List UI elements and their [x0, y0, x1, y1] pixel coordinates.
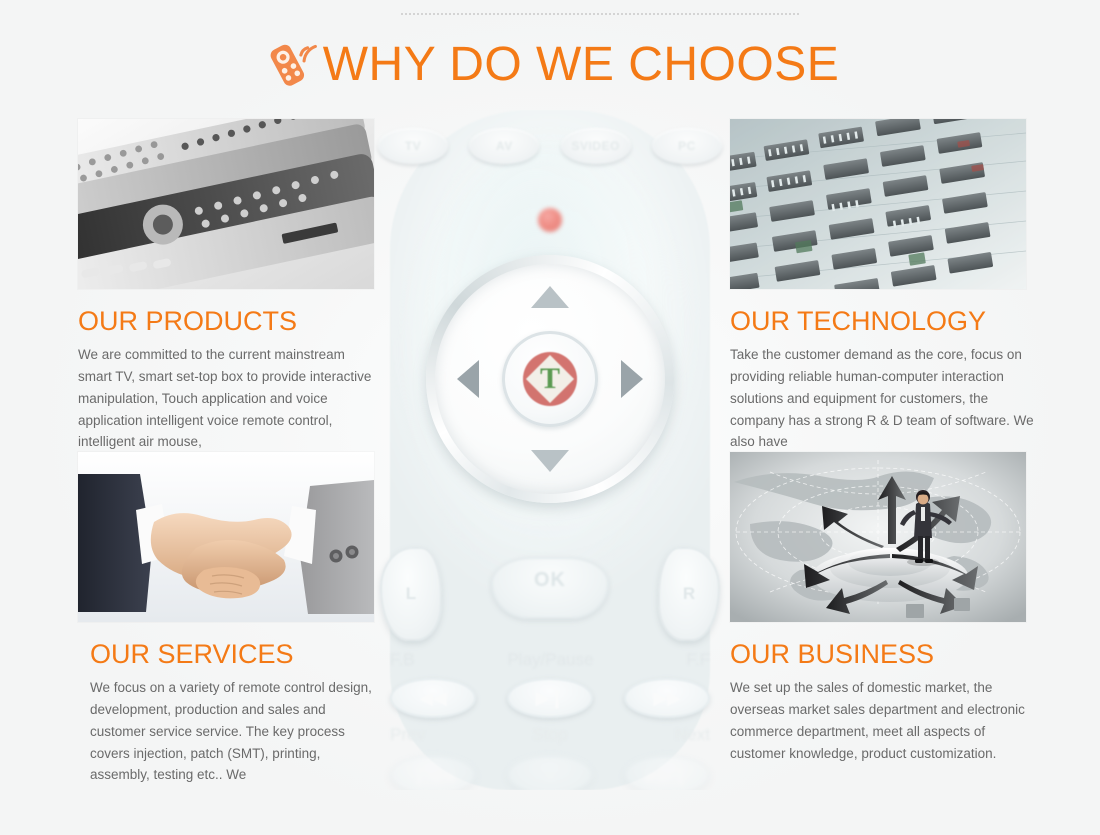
card-services-body: We focus on a variety of remote control … — [78, 677, 380, 786]
sub-label-stop: Stop — [533, 725, 568, 745]
remote-next-button[interactable]: ▶▶❙ — [624, 755, 710, 790]
media-label-play-pause: Play/Pause — [507, 650, 593, 670]
page-header: WHY DO WE CHOOSE — [0, 36, 1100, 94]
sub-label-next: Next — [675, 725, 710, 745]
brand-logo-icon: T — [523, 352, 577, 406]
dpad-down-arrow-icon[interactable] — [531, 450, 569, 472]
remote-prev-button[interactable]: ❙◀◀ — [390, 755, 476, 790]
dpad-center-button[interactable]: T — [502, 331, 598, 427]
dpad-ring[interactable]: T — [435, 264, 665, 494]
remote-fn-button-av[interactable]: AV — [469, 128, 539, 164]
remote-function-button-row: TV AV SVIDEO PC — [374, 128, 726, 164]
dpad-up-arrow-icon[interactable] — [531, 286, 569, 308]
remote-stop-button[interactable]: ■ — [507, 755, 593, 790]
dpad-left-arrow-icon[interactable] — [457, 360, 479, 398]
remote-transport-row-secondary: ❙◀◀ ■ ▶▶❙ — [390, 755, 710, 790]
remote-play-pause-button[interactable]: ▶❙ — [507, 678, 593, 718]
card-business-heading: OUR BUSINESS — [730, 641, 1040, 668]
card-products-heading: OUR PRODUCTS — [78, 308, 388, 335]
infrared-led-indicator — [538, 208, 562, 232]
remote-forward-button[interactable]: ▶▶ — [624, 678, 710, 718]
card-technology: OUR TECHNOLOGY Take the customer demand … — [730, 119, 1040, 453]
card-business-body: We set up the sales of domestic market, … — [730, 677, 1032, 764]
remote-fn-button-pc[interactable]: PC — [652, 128, 722, 164]
page-root: WHY DO WE CHOOSE TV AV SVIDEO PC — [0, 0, 1100, 835]
remote-fn-button-tv[interactable]: TV — [378, 128, 448, 164]
card-products-body: We are committed to the current mainstre… — [78, 344, 378, 453]
global-business-arrows-photo — [730, 452, 1026, 622]
remote-fn-button-svideo[interactable]: SVIDEO — [561, 128, 631, 164]
brand-logo-letter: T — [540, 364, 560, 394]
media-label-ff: F.F — [686, 650, 710, 670]
top-dotted-divider — [400, 13, 800, 15]
remote-right-button[interactable]: R — [658, 547, 720, 641]
stacked-tv-remote-controls-photo — [78, 119, 374, 289]
dpad-right-arrow-icon[interactable] — [621, 360, 643, 398]
remote-transport-row: ◀◀ ▶❙ ▶▶ — [390, 678, 710, 718]
business-handshake-photo — [78, 452, 374, 622]
card-services: OUR SERVICES We focus on a variety of re… — [78, 452, 388, 786]
remote-left-button[interactable]: L — [380, 547, 442, 641]
sub-label-prev: Prev — [390, 725, 425, 745]
card-business: OUR BUSINESS We set up the sales of dome… — [730, 452, 1040, 764]
remote-dpad[interactable]: T — [426, 255, 674, 503]
circuit-board-chips-photo — [730, 119, 1026, 289]
remote-rewind-button[interactable]: ◀◀ — [390, 678, 476, 718]
remote-media-labels: F.B Play/Pause F.F — [390, 650, 710, 670]
media-label-fb: F.B — [390, 650, 415, 670]
central-remote-illustration: TV AV SVIDEO PC T L — [368, 110, 732, 790]
card-technology-heading: OUR TECHNOLOGY — [730, 308, 1040, 335]
card-products: OUR PRODUCTS We are committed to the cur… — [78, 119, 388, 453]
page-title: WHY DO WE CHOOSE — [323, 41, 839, 89]
remote-ok-button[interactable]: OK — [491, 557, 609, 619]
remote-control-signal-icon — [261, 36, 319, 94]
card-services-heading: OUR SERVICES — [78, 641, 388, 668]
remote-lr-row: L OK R — [368, 535, 732, 645]
remote-sub-labels: Prev Stop Next — [390, 725, 710, 745]
card-technology-body: Take the customer demand as the core, fo… — [730, 344, 1034, 453]
